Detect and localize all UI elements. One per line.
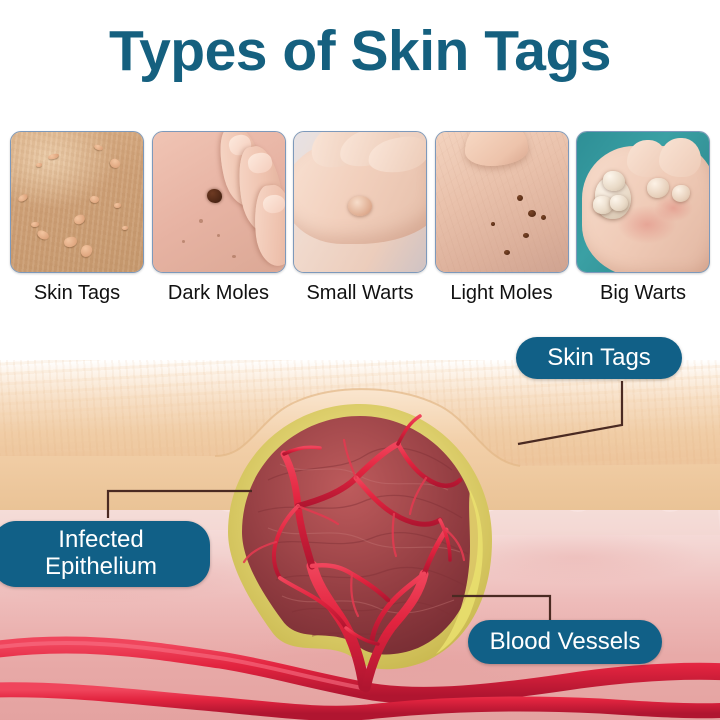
type-thumbnail-dark-moles <box>152 131 286 273</box>
type-thumbnail-skin-tags <box>10 131 144 273</box>
type-card-big-warts[interactable]: Big Warts <box>576 131 710 311</box>
knuckle <box>659 138 701 177</box>
callout-skin-tags[interactable]: Skin Tags <box>516 337 682 379</box>
freckle <box>182 240 185 243</box>
skin-tag-types-strip: Skin Tags Dark Moles <box>10 131 710 311</box>
large-wart-cluster <box>610 195 628 211</box>
light-mole <box>523 233 529 238</box>
light-mole <box>541 215 546 220</box>
type-label-dark-moles: Dark Moles <box>168 282 269 305</box>
type-label-skin-tags: Skin Tags <box>34 282 120 305</box>
type-label-light-moles: Light Moles <box>450 282 552 305</box>
type-card-light-moles[interactable]: Light Moles <box>435 131 569 311</box>
type-card-small-warts[interactable]: Small Warts <box>293 131 427 311</box>
light-mole <box>504 250 510 255</box>
type-thumbnail-big-warts <box>576 131 710 273</box>
type-card-skin-tags[interactable]: Skin Tags <box>10 131 144 311</box>
type-label-small-warts: Small Warts <box>306 282 413 305</box>
infographic-page: Types of Skin Tags Skin Tags <box>0 0 720 720</box>
page-title: Types of Skin Tags <box>0 22 720 82</box>
type-thumbnail-small-warts <box>293 131 427 273</box>
skin-tag-bump <box>31 222 39 227</box>
callout-infected-epithelium[interactable]: Infected Epithelium <box>0 521 210 587</box>
skin-tag-bump <box>122 226 128 230</box>
callout-blood-vessels[interactable]: Blood Vessels <box>468 620 662 664</box>
light-mole <box>491 222 495 226</box>
type-card-dark-moles[interactable]: Dark Moles <box>152 131 286 311</box>
thumb-shape <box>465 131 528 166</box>
skin-tag-bump <box>36 163 42 167</box>
freckle <box>199 219 203 223</box>
type-label-big-warts: Big Warts <box>600 282 686 305</box>
skin-texture-tan <box>11 132 143 272</box>
freckle <box>232 255 236 258</box>
type-thumbnail-light-moles <box>435 131 569 273</box>
